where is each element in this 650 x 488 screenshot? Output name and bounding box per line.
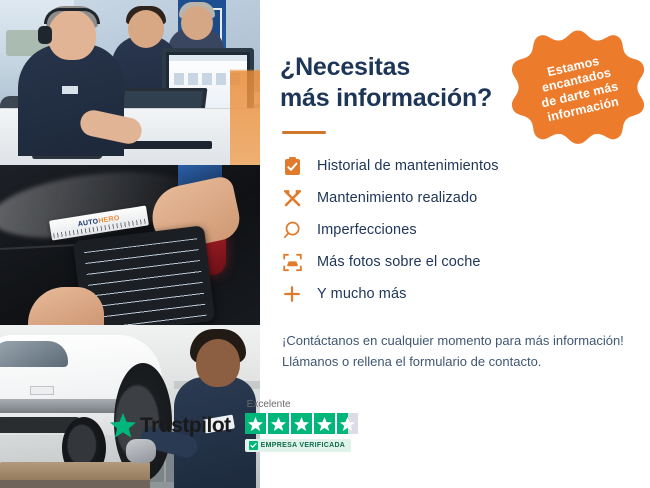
trustpilot-stars	[245, 413, 358, 434]
inspector-hand-2	[28, 287, 104, 325]
list-item-label: Más fotos sobre el coche	[317, 254, 481, 270]
star-filled	[291, 413, 312, 434]
list-item-label: Historial de mantenimientos	[317, 158, 499, 174]
crossed-tools-icon	[282, 188, 302, 208]
feature-list: Historial de mantenimientos Mantenimient…	[282, 150, 650, 310]
list-item: Mantenimiento realizado	[282, 182, 650, 214]
car-photo-frame-icon	[282, 252, 302, 272]
agent-primary	[18, 44, 124, 156]
car-lift-base	[0, 480, 150, 488]
plus-icon	[282, 284, 302, 304]
cones-decor	[230, 45, 260, 165]
magnifier-icon	[282, 220, 302, 240]
headline-line-1: ¿Necesitas	[280, 53, 410, 81]
verified-label: EMPRESA VERIFICADA	[261, 442, 345, 449]
star-partial	[337, 413, 358, 434]
call-centre-agents-photo	[0, 0, 260, 165]
autohero-logo: AUTOHERO	[77, 214, 120, 228]
list-item-label: Imperfecciones	[317, 222, 417, 238]
star-filled	[245, 413, 266, 434]
information-banner: AUTOHERO ¿N	[0, 0, 650, 488]
contact-line-1: ¡Contáctanos en cualquier momento para m…	[282, 333, 624, 348]
contact-text: ¡Contáctanos en cualquier momento para m…	[282, 330, 650, 373]
contact-line-2: Llámanos o rellena el formulario de cont…	[282, 354, 541, 369]
trustpilot-wordmark: Trustpilot	[140, 414, 231, 438]
star-filled	[314, 413, 335, 434]
trustpilot-rating[interactable]: Trustpilot Excelente	[110, 399, 358, 452]
check-icon	[249, 441, 258, 450]
list-item: Más fotos sobre el coche	[282, 246, 650, 278]
list-item-label: Mantenimiento realizado	[317, 190, 477, 206]
list-item-label: Y mucho más	[317, 286, 406, 302]
trustpilot-star-icon	[110, 413, 136, 438]
title-underline	[282, 131, 326, 134]
verified-business-badge: EMPRESA VERIFICADA	[245, 439, 351, 452]
list-item: Y mucho más	[282, 278, 650, 310]
trustpilot-rating-label: Excelente	[247, 399, 291, 410]
headline-line-2: más información?	[280, 84, 492, 112]
promo-badge: Estamos encantados de darte más informac…	[509, 18, 647, 156]
vehicle-inspection-ruler-photo: AUTOHERO	[0, 165, 260, 325]
starburst-shape	[509, 18, 647, 156]
trustpilot-score-block: Excelente	[245, 399, 358, 452]
list-item: Imperfecciones	[282, 214, 650, 246]
star-filled	[268, 413, 289, 434]
trustpilot-logo[interactable]: Trustpilot	[110, 413, 231, 438]
clipboard-check-icon	[282, 156, 302, 176]
